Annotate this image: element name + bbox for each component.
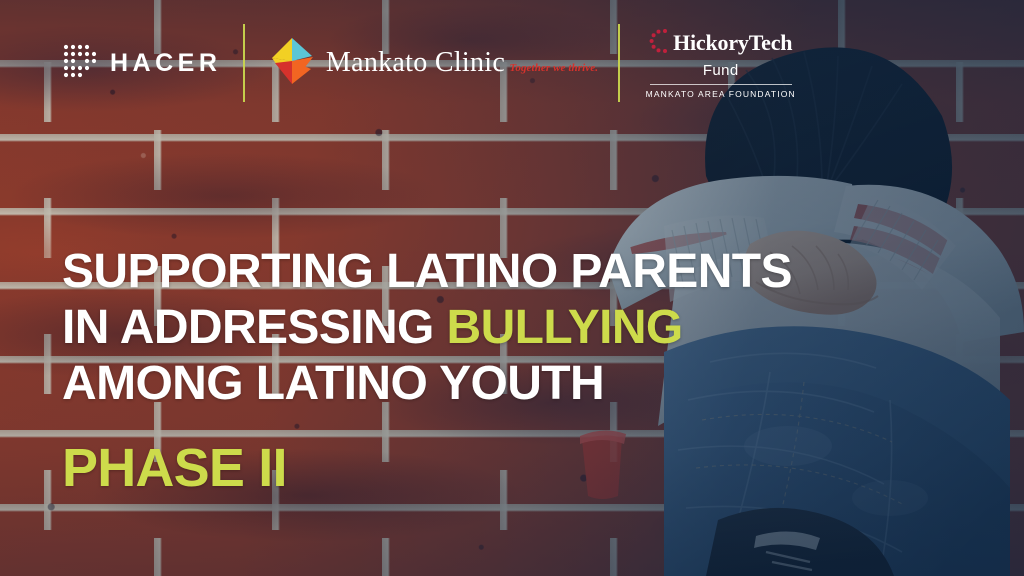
hacer-dot-grid-icon [62,43,96,84]
headline-line-1: SUPPORTING LATINO PARENTS [62,244,902,300]
mankato-diamond-icon [269,36,315,91]
headline-line-3: AMONG LATINO YOUTH [62,356,902,412]
mankato-name: Mankato Clinic [326,47,505,78]
hacer-wordmark: HACER [110,51,221,76]
phase-label: PHASE II [62,437,287,499]
hickorytech-dotted-arc-icon [649,28,669,59]
logo-hickorytech-fund[interactable]: HickoryTech Fund MANKATO AREA FOUNDATION [620,24,796,102]
mankato-text-block: Mankato Clinic Together we thrive. [326,48,598,77]
logo-hacer[interactable]: HACER [62,24,243,102]
title-slide: HACER Mankato Cl [0,0,1024,576]
mankato-tagline: Together we thrive. [510,62,599,74]
hickorytech-fund-label: Fund [703,63,739,78]
logo-divider-2 [618,24,620,102]
headline-line-2-plain: IN ADDRESSING [62,301,447,354]
hickorytech-foundation-label: MANKATO AREA FOUNDATION [646,90,796,99]
logo-divider-1 [243,24,245,102]
hickorytech-rule [650,84,792,85]
headline-accent-bullying: BULLYING [447,301,683,354]
headline-line-2: IN ADDRESSING BULLYING [62,300,902,356]
hickorytech-top-row: HickoryTech [649,28,792,59]
headline-block: SUPPORTING LATINO PARENTS IN ADDRESSING … [62,244,902,412]
logo-mankato-clinic[interactable]: Mankato Clinic Together we thrive. [245,24,618,102]
hickorytech-name: HickoryTech [673,32,792,54]
sponsor-logo-bar: HACER Mankato Cl [62,24,796,102]
